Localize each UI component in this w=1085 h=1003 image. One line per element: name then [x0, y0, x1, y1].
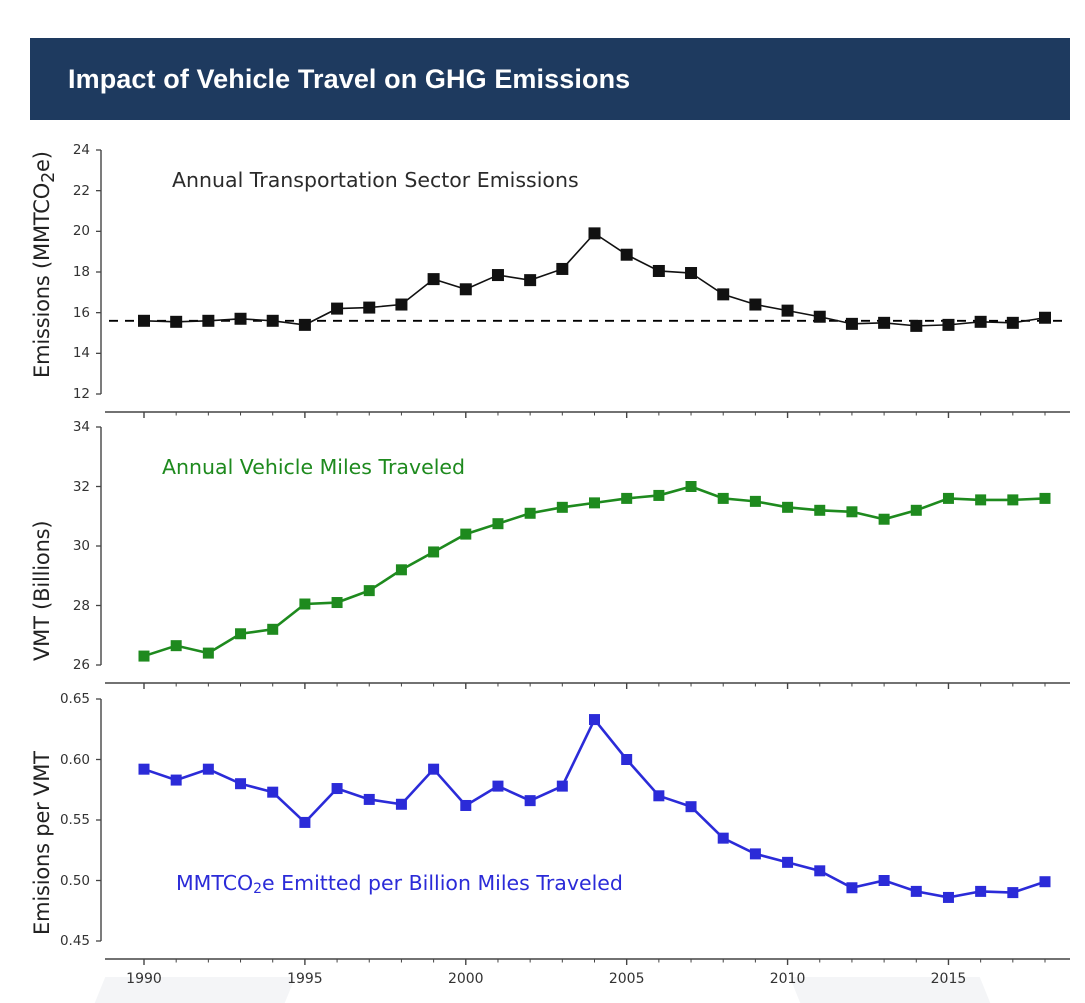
- data-point-marker: [460, 529, 471, 540]
- data-point-marker: [685, 267, 697, 279]
- data-point-marker: [653, 790, 664, 801]
- data-point-marker: [621, 754, 632, 765]
- data-point-marker: [299, 319, 311, 331]
- data-point-marker: [943, 493, 954, 504]
- data-point-marker: [395, 299, 407, 311]
- data-point-marker: [814, 865, 825, 876]
- data-point-marker: [396, 564, 407, 575]
- data-point-marker: [235, 628, 246, 639]
- chart-panel-emissions-per-vmt: 0.450.500.550.600.65Emisions per VMTMMTC…: [0, 685, 1085, 1001]
- data-point-marker: [975, 316, 987, 328]
- data-point-marker: [557, 781, 568, 792]
- data-point-marker: [492, 269, 504, 281]
- data-point-marker: [846, 882, 857, 893]
- chart-panel-vmt: 2628303234VMT (Billions)Annual Vehicle M…: [0, 413, 1085, 689]
- data-point-marker: [396, 799, 407, 810]
- data-point-marker: [428, 546, 439, 557]
- data-point-marker: [460, 800, 471, 811]
- data-point-marker: [686, 481, 697, 492]
- data-point-marker: [1040, 493, 1051, 504]
- data-point-marker: [299, 599, 310, 610]
- data-point-marker: [267, 787, 278, 798]
- data-point-marker: [718, 493, 729, 504]
- data-point-marker: [203, 764, 214, 775]
- data-point-marker: [846, 318, 858, 330]
- data-point-marker: [332, 783, 343, 794]
- data-point-marker: [750, 848, 761, 859]
- x-tick-label: 2000: [448, 971, 484, 987]
- x-tick-label: 1990: [126, 971, 162, 987]
- x-tick-label: 1995: [287, 971, 323, 987]
- data-point-marker: [814, 505, 825, 516]
- data-point-marker: [975, 494, 986, 505]
- series-line: [144, 487, 1045, 657]
- data-point-marker: [139, 764, 150, 775]
- data-point-marker: [203, 648, 214, 659]
- data-point-marker: [525, 795, 536, 806]
- y-axis-label: Emisions per VMT: [30, 751, 54, 935]
- data-point-marker: [911, 886, 922, 897]
- data-point-marker: [814, 311, 826, 323]
- data-point-marker: [428, 764, 439, 775]
- data-point-marker: [653, 265, 665, 277]
- chart-panel-emissions: 12141618202224Emissions (MMTCO2e)Annual …: [0, 128, 1085, 418]
- data-point-marker: [267, 624, 278, 635]
- data-point-marker: [364, 794, 375, 805]
- data-point-marker: [782, 857, 793, 868]
- data-point-marker: [782, 502, 793, 513]
- series-line: [144, 233, 1045, 326]
- data-point-marker: [942, 319, 954, 331]
- chart-figure: 12141618202224Emissions (MMTCO2e)Annual …: [0, 128, 1085, 983]
- x-tick-label: 2005: [609, 971, 645, 987]
- data-point-marker: [1039, 312, 1051, 324]
- slide-title-bar: Impact of Vehicle Travel on GHG Emission…: [30, 38, 1070, 120]
- x-tick-label: 2010: [770, 971, 806, 987]
- data-point-marker: [621, 493, 632, 504]
- data-point-marker: [878, 317, 890, 329]
- data-point-marker: [589, 497, 600, 508]
- data-point-marker: [138, 315, 150, 327]
- data-point-marker: [363, 302, 375, 314]
- data-point-marker: [653, 490, 664, 501]
- data-point-marker: [171, 640, 182, 651]
- data-point-marker: [557, 502, 568, 513]
- data-point-marker: [718, 833, 729, 844]
- data-point-marker: [750, 496, 761, 507]
- data-point-marker: [428, 273, 440, 285]
- data-point-marker: [749, 299, 761, 311]
- data-point-marker: [267, 315, 279, 327]
- data-point-marker: [1007, 494, 1018, 505]
- data-point-marker: [879, 514, 890, 525]
- data-point-marker: [364, 585, 375, 596]
- data-point-marker: [202, 315, 214, 327]
- data-point-marker: [524, 274, 536, 286]
- data-point-marker: [1007, 317, 1019, 329]
- data-point-marker: [1040, 876, 1051, 887]
- data-point-marker: [975, 886, 986, 897]
- data-point-marker: [331, 303, 343, 315]
- series-title-annual-vehicle-miles-traveled: Annual Vehicle Miles Traveled: [162, 455, 465, 479]
- y-axis-label: Emissions (MMTCO2e): [30, 151, 59, 378]
- data-point-marker: [943, 892, 954, 903]
- page-title: Impact of Vehicle Travel on GHG Emission…: [68, 64, 630, 95]
- series-title-emissions-per-vmt: MMTCO2e Emitted per Billion Miles Travel…: [176, 871, 623, 897]
- data-point-marker: [589, 227, 601, 239]
- plot-area-emissions-per-vmt: [0, 685, 1085, 1001]
- data-point-marker: [782, 305, 794, 317]
- data-point-marker: [1007, 887, 1018, 898]
- x-tick-label: 2015: [931, 971, 967, 987]
- data-point-marker: [299, 817, 310, 828]
- data-point-marker: [879, 875, 890, 886]
- data-point-marker: [910, 320, 922, 332]
- data-point-marker: [911, 505, 922, 516]
- data-point-marker: [621, 249, 633, 261]
- data-point-marker: [492, 781, 503, 792]
- data-point-marker: [556, 263, 568, 275]
- slide-root: Impact of Vehicle Travel on GHG Emission…: [0, 0, 1085, 1003]
- data-point-marker: [235, 778, 246, 789]
- data-point-marker: [332, 597, 343, 608]
- y-axis-label: VMT (Billions): [30, 521, 54, 661]
- data-point-marker: [171, 775, 182, 786]
- data-point-marker: [139, 651, 150, 662]
- data-point-marker: [170, 316, 182, 328]
- data-point-marker: [686, 801, 697, 812]
- data-point-marker: [717, 288, 729, 300]
- series-title-annual-transportation-sector-emissions: Annual Transportation Sector Emissions: [172, 168, 579, 192]
- data-point-marker: [846, 506, 857, 517]
- data-point-marker: [589, 714, 600, 725]
- data-point-marker: [235, 313, 247, 325]
- data-point-marker: [492, 518, 503, 529]
- data-point-marker: [525, 508, 536, 519]
- data-point-marker: [460, 283, 472, 295]
